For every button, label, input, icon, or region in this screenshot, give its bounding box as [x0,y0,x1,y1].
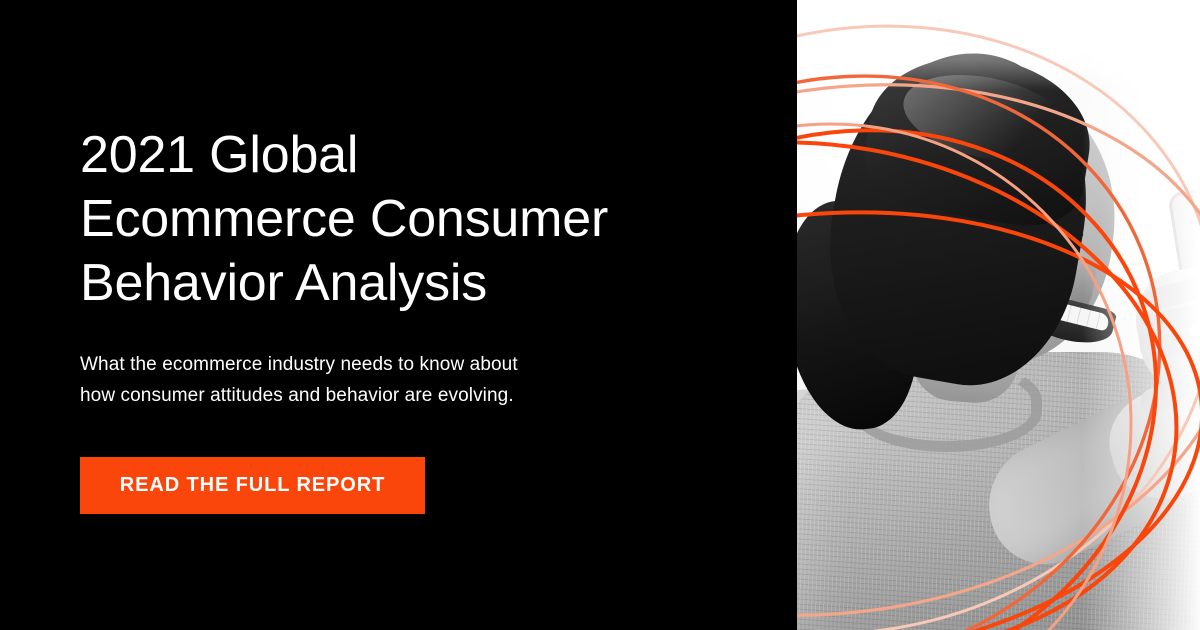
hero-banner: 2021 Global Ecommerce Consumer Behavior … [0,0,1200,630]
subtitle-text: What the ecommerce industry needs to kno… [80,350,760,412]
photo-right-fade [1082,0,1200,630]
portrait-photo [797,0,1200,630]
read-full-report-button[interactable]: READ THE FULL REPORT [80,457,425,514]
content-panel: 2021 Global Ecommerce Consumer Behavior … [0,0,797,630]
content-stack: 2021 Global Ecommerce Consumer Behavior … [80,124,760,514]
page-title: 2021 Global Ecommerce Consumer Behavior … [80,124,760,316]
artwork-panel [797,0,1200,630]
